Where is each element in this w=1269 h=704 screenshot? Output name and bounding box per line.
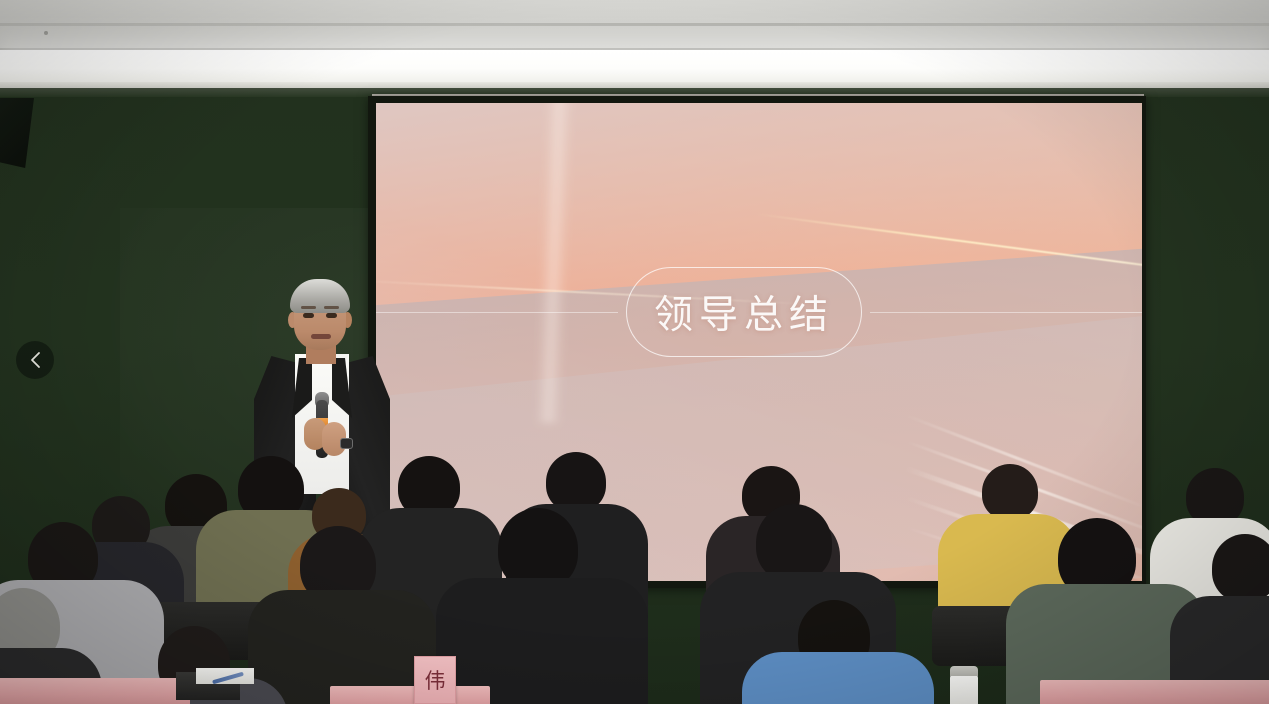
audience: 伟 [0, 430, 1269, 704]
slide-title: 领导总结 [654, 284, 834, 340]
nameplate-text: 伟 [425, 665, 446, 695]
thermos-cup [950, 674, 978, 704]
desk-front-center [330, 686, 490, 704]
thermos-cap [950, 666, 978, 676]
presenter-hair [290, 279, 350, 313]
slide-divider-right [870, 312, 1142, 313]
ceiling [0, 0, 1269, 56]
desk-front-left [0, 678, 190, 704]
ceiling-fixture-dot [44, 31, 48, 35]
presenter-eye-left [303, 313, 314, 318]
slide-title-pill: 领导总结 [626, 267, 862, 357]
ceiling-light-strip [0, 50, 1269, 84]
desk-nameplate: 伟 [414, 656, 456, 704]
presenter-mouth [311, 334, 331, 339]
photo-viewer: 领导总结 [0, 0, 1269, 704]
chevron-left-icon [28, 350, 43, 370]
ceiling-seam [0, 23, 1269, 26]
presenter-brow-right [324, 306, 339, 309]
presenter-eye-right [326, 313, 337, 318]
slide-divider-left [376, 312, 618, 313]
desk-front-right [1040, 680, 1269, 704]
presenter-brow-left [301, 306, 316, 309]
prev-image-button[interactable] [16, 341, 54, 379]
